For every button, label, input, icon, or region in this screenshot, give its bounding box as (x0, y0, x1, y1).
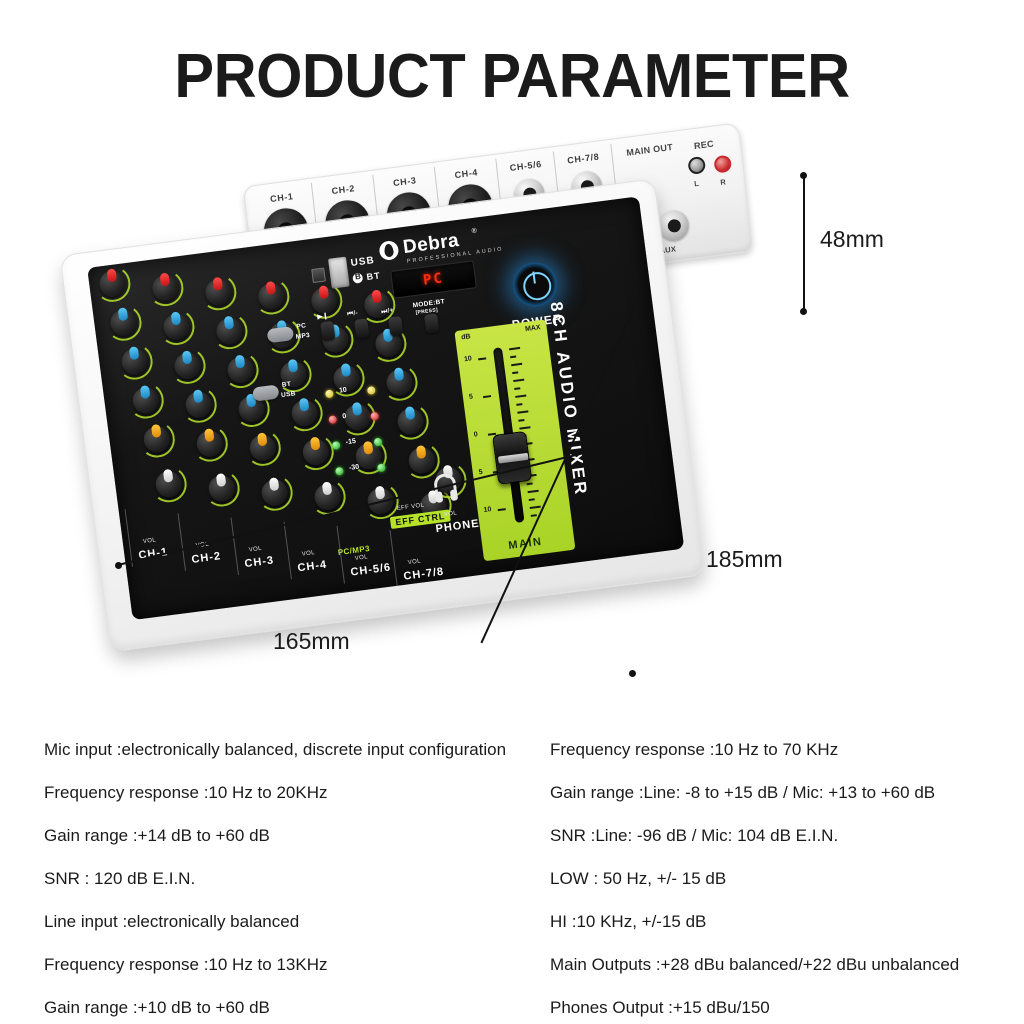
channel-label-ch-3: CH-3 (244, 554, 275, 570)
spec-left-row-6: Gain range :+10 dB to +60 dB (44, 986, 544, 1024)
dimension-depth-label: 185mm (706, 546, 783, 573)
knob-ch-1-row0[interactable] (98, 269, 127, 298)
knob-scale-arc (285, 393, 325, 433)
knob-ch-3-row5[interactable] (260, 478, 289, 507)
fader-fine-tick (515, 395, 526, 398)
level-led-left-0 (328, 415, 337, 424)
knob-ch-1-row5[interactable] (154, 470, 183, 499)
level-led-label--15: -15 (345, 438, 356, 446)
knob-ch-7-8-row2[interactable] (385, 368, 414, 397)
knob-ch-2-row0[interactable] (151, 274, 180, 303)
rear-channel-label: CH-7/8 (554, 150, 612, 167)
knob-ch-1-row1[interactable] (109, 308, 138, 337)
fader-scale-label-4: 10 (483, 506, 492, 514)
level-led-left--30 (335, 467, 344, 476)
spec-left-row-0: Mic input :electronically balanced, disc… (44, 728, 544, 771)
level-led-label-10: 10 (339, 387, 348, 395)
channel-divider (389, 530, 397, 588)
specifications: Mic input :electronically balanced, disc… (0, 728, 1024, 1008)
dimension-width-label: 165mm (273, 628, 350, 655)
fader-fine-tick (527, 482, 533, 484)
fader-fine-tick (511, 363, 522, 366)
channel-label-ch-4: CH-4 (297, 559, 328, 575)
channel-vol-tag: VOL (407, 558, 421, 566)
knob-ch-1-row2[interactable] (120, 347, 149, 376)
fader-fine-tick (530, 506, 541, 509)
channel-label-ch-7-8: CH-7/8 (403, 566, 445, 583)
transport-play-pause-label: ▶❙ (317, 311, 329, 320)
level-led-label--30: -30 (349, 464, 360, 472)
spec-left-row-2: Gain range :+14 dB to +60 dB (44, 814, 544, 857)
transport-mode-button[interactable] (424, 313, 439, 334)
dimension-height-label: 48mm (820, 226, 884, 253)
channel-vol-tag: VOL (143, 537, 157, 545)
transport-previous-label: ⏮/- (347, 310, 359, 319)
knob-scale-arc (255, 473, 295, 513)
transport-next-label: ⏭/+ (381, 307, 394, 317)
knob-scale-arc (156, 307, 196, 347)
spec-right-row-6: Phones Output :+15 dBu/150 (550, 986, 1010, 1024)
knob-scale-arc (296, 432, 336, 472)
knob-ch-2-row5[interactable] (207, 474, 236, 503)
fader-unit-label: dB (461, 333, 471, 341)
knob-scale-arc (126, 380, 166, 420)
knob-ch-4-row3[interactable] (290, 399, 319, 428)
lcd-value: PC (422, 270, 445, 289)
knob-ch-2-row4[interactable] (195, 429, 224, 458)
knob-ch-4-row5[interactable] (313, 482, 342, 511)
level-led-label-0: 0 (342, 413, 347, 420)
phone-vol-tag: VOL (444, 510, 458, 518)
knob-ch-5-6-row3[interactable] (343, 403, 372, 432)
lcd-display: PC (390, 260, 477, 299)
knob-ch-4-row4[interactable] (301, 438, 330, 467)
knob-scale-arc (379, 363, 419, 403)
knob-ch-4-row0[interactable] (257, 282, 286, 311)
fader-scale-tick (478, 357, 486, 360)
fader-max-label: MAX (525, 324, 541, 333)
channel-vol-tag: VOL (302, 550, 316, 558)
rec-right-label: R (720, 177, 727, 187)
knob-scale-arc (149, 464, 189, 504)
rear-channel-label: CH-3 (374, 173, 436, 191)
fader-fine-tick (514, 387, 520, 389)
source-mp3-label: MP3 (295, 332, 310, 341)
knob-scale-arc (103, 303, 143, 343)
fader-fine-tick (512, 371, 518, 373)
fader-fine-tick (531, 514, 537, 516)
fader-scale-label-3: 5 (478, 469, 483, 476)
spec-right-row-3: LOW : 50 Hz, +/- 15 dB (550, 857, 1010, 900)
knob-ch-2-row2[interactable] (173, 351, 202, 380)
specs-right-column: Frequency response :10 Hz to 70 KHzGain … (550, 728, 1010, 1024)
knob-scale-arc (202, 468, 242, 508)
level-led-right-0 (370, 412, 379, 421)
usb-port[interactable] (328, 257, 350, 289)
knob-scale-arc (198, 272, 238, 312)
transport-previous-button[interactable] (354, 318, 369, 339)
aux-output-jack[interactable] (657, 209, 690, 243)
bt-label: BT (366, 270, 381, 282)
fader-fine-tick (513, 379, 524, 382)
knob-scale-arc (220, 350, 260, 390)
spec-right-row-1: Gain range :Line: -8 to +15 dB / Mic: +1… (550, 771, 1010, 814)
rear-channel-label: CH-2 (312, 181, 374, 199)
rec-section-label: REC (694, 139, 715, 152)
knob-scale-arc (390, 401, 430, 441)
rec-rca-right[interactable] (713, 155, 732, 174)
fader-scale-tick (483, 395, 491, 398)
knob-ch-3-row1[interactable] (215, 317, 244, 346)
knob-scale-arc (92, 264, 132, 304)
brand-logo-icon (378, 240, 399, 261)
fader-fine-tick (529, 498, 535, 500)
usb-label: USB (350, 255, 375, 269)
main-fader-handle[interactable] (492, 431, 532, 485)
knob-scale-arc (179, 385, 219, 425)
channel-vol-tag: VOL (354, 554, 368, 562)
control-panel: CH-1VOLCH-2VOLCH-3VOLCH-4VOLCH-5/6VOLPC/… (87, 196, 684, 620)
level-led-left--15 (332, 441, 341, 450)
source-pc-label: PC (296, 322, 306, 330)
transport-next-button[interactable] (388, 316, 403, 337)
knob-ch-1-row4[interactable] (142, 425, 171, 454)
knob-ch-7-8-row3[interactable] (396, 407, 425, 436)
fader-scale-label-1: 5 (469, 393, 474, 400)
mixer-device: CH-1Hi-Z+48VCH-2Hi-Z+48VCH-3Hi-Z+48VCH-4… (96, 154, 716, 624)
knob-scale-arc (251, 276, 291, 316)
product-photo: CH-1Hi-Z+48VCH-2Hi-Z+48VCH-3Hi-Z+48VCH-4… (0, 130, 1024, 710)
knob-scale-arc (145, 268, 185, 308)
specs-left-column: Mic input :electronically balanced, disc… (44, 728, 544, 1024)
fader-fine-tick (519, 426, 530, 429)
bluetooth-icon (352, 273, 363, 284)
transport-play-pause-button[interactable] (320, 321, 335, 342)
spec-left-row-5: Frequency response :10 Hz to 13KHz (44, 943, 544, 986)
knob-scale-arc (167, 346, 207, 386)
knob-scale-arc (190, 424, 230, 464)
fader-fine-tick (516, 403, 522, 405)
channel-divider (178, 513, 186, 571)
rec-rca-left[interactable] (687, 156, 706, 175)
registered-mark: ® (471, 228, 477, 236)
knob-scale-arc (273, 354, 313, 394)
knob-scale-arc (137, 419, 177, 459)
knob-scale-arc (243, 428, 283, 468)
channel-vol-tag: VOL (249, 546, 263, 554)
channel-divider (125, 509, 133, 567)
knob-ch-2-row1[interactable] (162, 312, 191, 341)
fader-fine-tick (518, 419, 524, 421)
main-out-label: MAIN OUT (626, 142, 674, 158)
knob-scale-arc (114, 342, 154, 382)
spec-right-row-2: SNR :Line: -96 dB / Mic: 104 dB E.I.N. (550, 814, 1010, 857)
spec-right-row-4: HI :10 KHz, +/-15 dB (550, 900, 1010, 943)
channel-divider (284, 522, 292, 580)
channel-label-ch-2: CH-2 (191, 550, 222, 566)
spec-right-row-0: Frequency response :10 Hz to 70 KHz (550, 728, 1010, 771)
rec-left-label: L (694, 179, 700, 189)
knob-ch-1-row3[interactable] (131, 386, 160, 415)
level-led-right--30 (377, 463, 386, 472)
fader-fine-tick (528, 490, 539, 493)
fader-fine-tick (517, 410, 528, 413)
spec-left-row-4: Line input :electronically balanced (44, 900, 544, 943)
fader-fine-tick (510, 356, 516, 358)
spec-left-row-3: SNR : 120 dB E.I.N. (44, 857, 544, 900)
channel-divider (231, 517, 239, 575)
source-bt-usb-button[interactable] (252, 384, 280, 401)
level-led-left-10 (325, 389, 334, 398)
source-bt-label: BT (281, 381, 291, 389)
knob-ch-3-row2[interactable] (226, 356, 255, 385)
knob-scale-arc (209, 311, 249, 351)
rear-channel-label: CH-1 (251, 189, 313, 207)
rear-channel-label: CH-5/6 (497, 157, 555, 174)
fader-scale-label-2: 0 (473, 431, 478, 438)
spec-right-row-5: Main Outputs :+28 dBu balanced/+22 dBu u… (550, 943, 1010, 986)
fader-scale-label-0: 10 (464, 355, 473, 363)
rear-channel-label: CH-4 (435, 165, 497, 183)
page-title: PRODUCT PARAMETER (20, 46, 1003, 108)
fader-fine-tick (509, 347, 520, 350)
spec-left-row-1: Frequency response :10 Hz to 20KHz (44, 771, 544, 814)
knob-ch-3-row0[interactable] (204, 278, 233, 307)
knob-ch-3-row4[interactable] (248, 433, 277, 462)
knob-ch-2-row3[interactable] (184, 390, 213, 419)
sd-card-slot[interactable] (311, 267, 326, 283)
product-parameter-page: PRODUCT PARAMETER CH-1Hi-Z+48VCH-2Hi-Z+4… (0, 0, 1024, 1024)
level-led-right-10 (367, 386, 376, 395)
fader-scale-tick (498, 508, 506, 511)
channel-label-ch-5-6: CH-5/6 (350, 561, 392, 578)
